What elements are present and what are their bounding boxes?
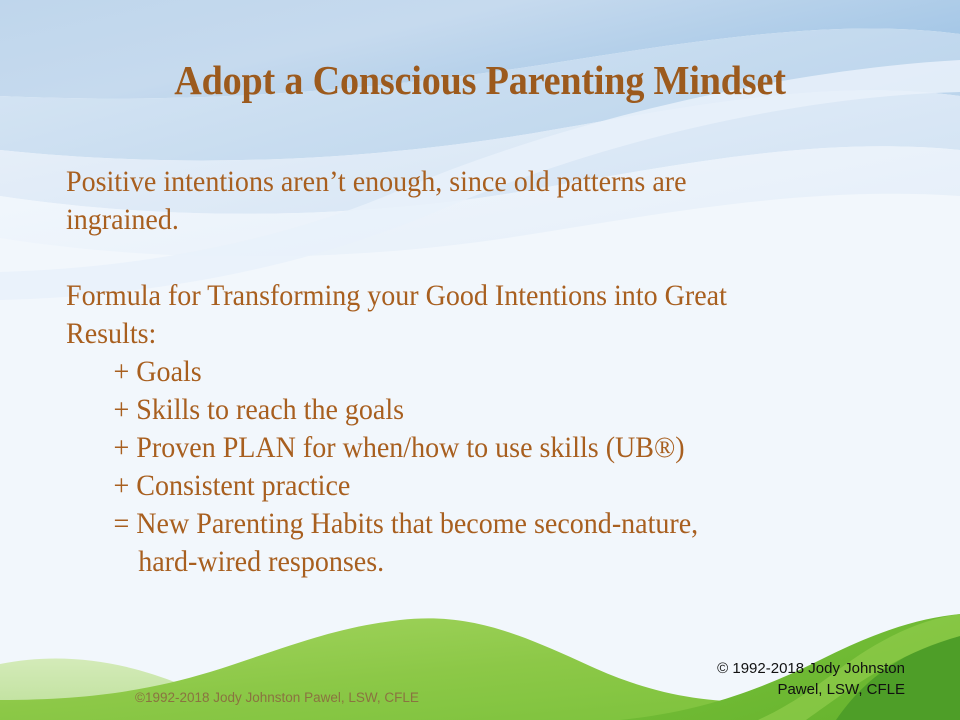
formula-item-practice: + Consistent practice bbox=[66, 467, 855, 505]
formula-item-result-continuation: hard-wired responses. bbox=[66, 543, 855, 581]
formula-item-result: = New Parenting Habits that become secon… bbox=[66, 505, 855, 543]
slide-body: Positive intentions aren’t enough, since… bbox=[66, 163, 896, 581]
body-line-4: Results: bbox=[66, 315, 855, 353]
body-line-1: Positive intentions aren’t enough, since… bbox=[66, 163, 855, 201]
copyright-notice-right: © 1992-2018 Jody Johnston Pawel, LSW, CF… bbox=[645, 658, 905, 700]
body-line-2: ingrained. bbox=[66, 201, 855, 239]
copyright-right-line-2: Pawel, LSW, CFLE bbox=[645, 679, 905, 700]
paragraph-spacer bbox=[66, 239, 896, 277]
formula-item-plan: + Proven PLAN for when/how to use skills… bbox=[66, 429, 855, 467]
body-line-3: Formula for Transforming your Good Inten… bbox=[66, 277, 855, 315]
formula-item-skills: + Skills to reach the goals bbox=[66, 391, 855, 429]
slide-title: Adopt a Conscious Parenting Mindset bbox=[34, 56, 927, 104]
formula-item-goals: + Goals bbox=[66, 353, 855, 391]
copyright-notice-left: ©1992-2018 Jody Johnston Pawel, LSW, CFL… bbox=[135, 690, 419, 705]
slide-canvas: Adopt a Conscious Parenting Mindset Posi… bbox=[0, 0, 960, 720]
copyright-right-line-1: © 1992-2018 Jody Johnston bbox=[645, 658, 905, 679]
